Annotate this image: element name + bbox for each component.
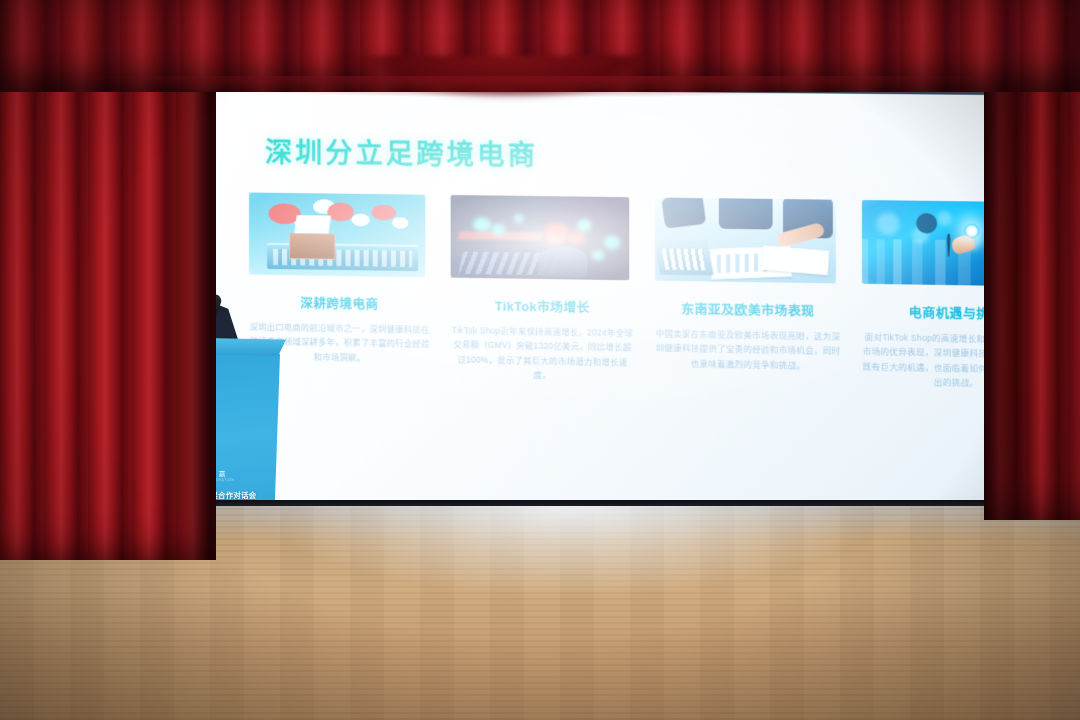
column-body: 中国卖家在东南亚及欧美市场表现亮眼，这为深圳健康科技提供了宝贵的经验和市场机会，… bbox=[655, 326, 841, 373]
slide-title: 深圳分立足跨境电商 bbox=[265, 131, 538, 173]
column-heading: 深耕跨境电商 bbox=[249, 292, 430, 314]
stage-scene: 深圳分立足跨境电商 深耕跨境电商 深圳出口电商的前沿城市之一，深圳健康科技在跨境… bbox=[0, 0, 1080, 720]
presentation-slide: 深圳分立足跨境电商 深耕跨境电商 深圳出口电商的前沿城市之一，深圳健康科技在跨境… bbox=[207, 88, 1080, 530]
stage-valance bbox=[0, 0, 1080, 92]
business-meeting-charts-image bbox=[655, 197, 836, 283]
neon-keyboard-night-image bbox=[451, 195, 630, 280]
column-heading: 东南亚及欧美市场表现 bbox=[655, 298, 841, 320]
column-heading: TikTok市场增长 bbox=[451, 295, 635, 317]
slide-column: 东南亚及欧美市场表现 中国卖家在东南亚及欧美市场表现亮眼，这为深圳健康科技提供了… bbox=[655, 197, 841, 387]
slide-column: TikTok市场增长 TikTok Shop近年来保持高速增长，2024年全球交… bbox=[451, 195, 635, 384]
slide-columns: 深耕跨境电商 深圳出口电商的前沿城市之一，深圳健康科技在跨境电商领域深耕多年，积… bbox=[249, 193, 1051, 392]
projection-screen: 深圳分立足跨境电商 深耕跨境电商 深圳出口电商的前沿城市之一，深圳健康科技在跨境… bbox=[207, 88, 1080, 530]
world-map-parcel-laptop-image bbox=[249, 193, 425, 278]
column-body: TikTok Shop近年来保持高速增长，2024年全球交易额（GMV）突破13… bbox=[451, 323, 635, 384]
